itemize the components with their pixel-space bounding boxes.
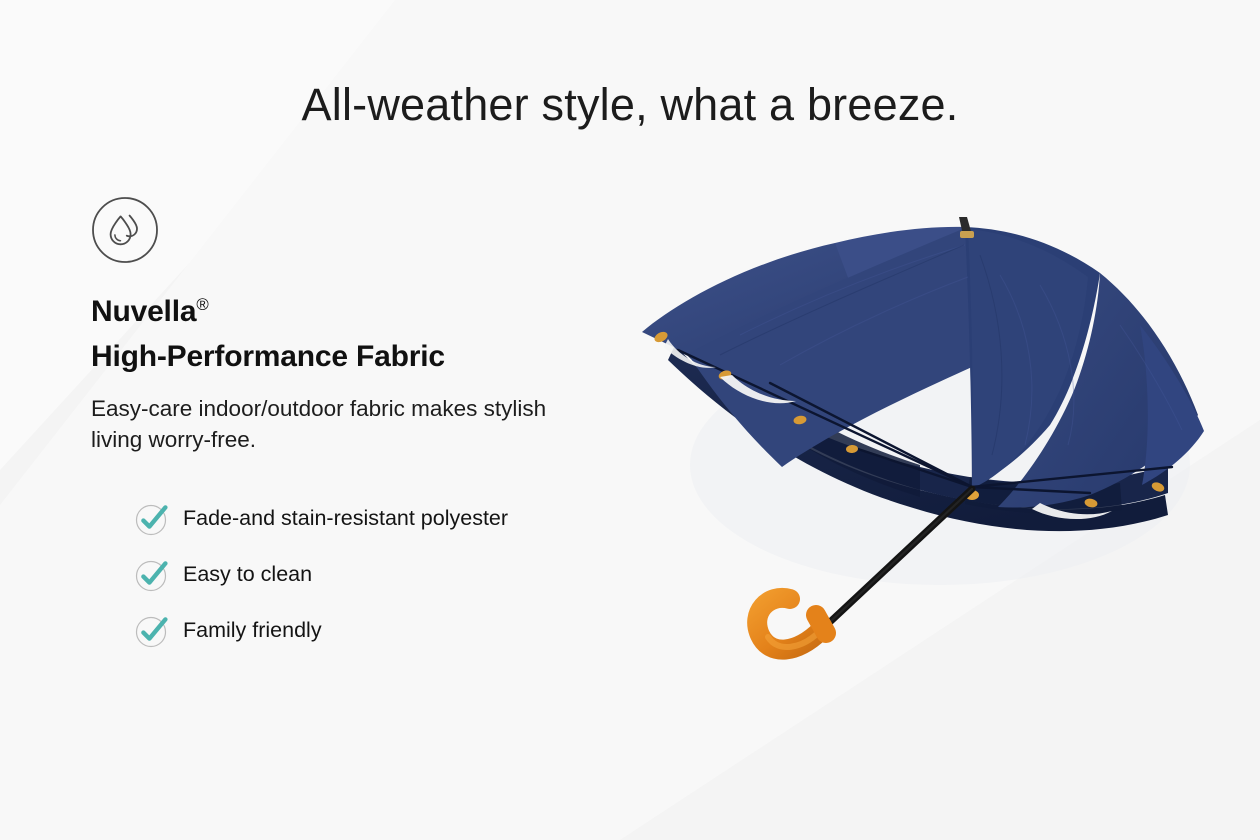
list-item: Family friendly (135, 614, 631, 648)
fabric-brand-name: Nuvella (91, 295, 196, 328)
fabric-product-line: High-Performance Fabric (91, 334, 631, 379)
benefit-label: Easy to clean (183, 563, 312, 587)
fabric-description: Easy-care indoor/outdoor fabric makes st… (91, 394, 591, 455)
banner-headline: All-weather style, what a breeze. (0, 82, 1260, 127)
list-item: Fade-and stain-resistant polyester (135, 502, 631, 536)
registered-trademark-symbol: ® (196, 295, 208, 314)
benefit-label: Fade-and stain-resistant polyester (183, 507, 508, 531)
check-circle-icon (135, 502, 169, 536)
fabric-title: Nuvella® High-Performance Fabric (91, 289, 631, 379)
check-circle-icon (135, 558, 169, 592)
feature-content-column: Nuvella® High-Performance Fabric Easy-ca… (91, 196, 631, 664)
water-droplets-icon (91, 196, 631, 264)
fabric-brand-line: Nuvella® (91, 289, 631, 334)
promo-banner: All-weather style, what a breeze. Nuvell… (0, 0, 1260, 840)
check-circle-icon (135, 614, 169, 648)
list-item: Easy to clean (135, 558, 631, 592)
benefits-list: Fade-and stain-resistant polyester Easy … (91, 502, 631, 648)
navy-umbrella-photo (620, 215, 1220, 695)
benefit-label: Family friendly (183, 619, 322, 643)
